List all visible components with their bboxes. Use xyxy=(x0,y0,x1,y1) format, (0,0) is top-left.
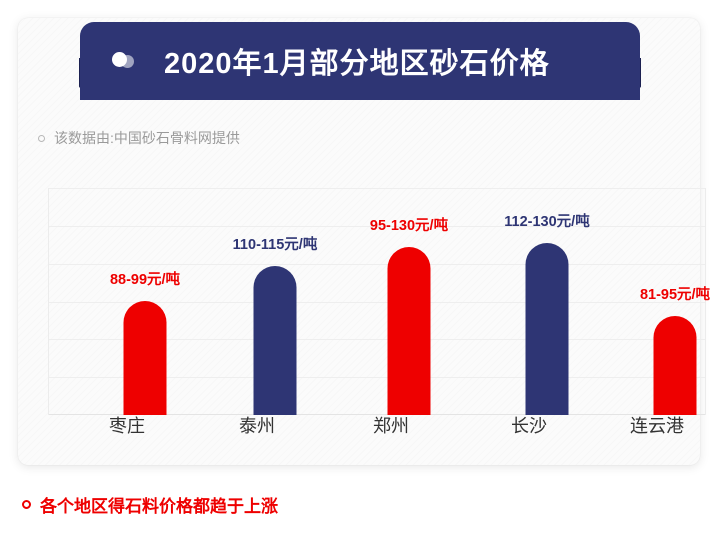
dot-pair-icon xyxy=(112,52,146,70)
bar-series: 88-99元/吨110-115元/吨95-130元/吨112-130元/吨81-… xyxy=(48,188,706,415)
bar-value-label: 110-115元/吨 xyxy=(233,233,318,254)
title-banner: 2020年1月部分地区砂石价格 xyxy=(80,22,640,100)
bar-value-label: 88-99元/吨 xyxy=(110,268,180,289)
circle-outline-icon xyxy=(22,500,31,509)
bar-value-label: 95-130元/吨 xyxy=(370,214,448,235)
summary-note: 各个地区得石料价格都趋于上涨 xyxy=(22,492,278,517)
bar[interactable] xyxy=(388,247,431,415)
bar-slot: 81-95元/吨 xyxy=(610,188,720,415)
category-label: 长沙 xyxy=(464,412,594,438)
page-title: 2020年1月部分地区砂石价格 xyxy=(164,40,550,82)
bar[interactable] xyxy=(526,243,569,415)
bar-slot: 110-115元/吨 xyxy=(210,188,340,415)
category-axis: 枣庄泰州郑州长沙连云港 xyxy=(30,412,688,442)
bar-slot: 88-99元/吨 xyxy=(80,188,210,415)
bar[interactable] xyxy=(654,316,697,415)
category-label: 泰州 xyxy=(192,412,322,438)
data-source-text: 该数据由:中国砂石骨料网提供 xyxy=(54,128,240,148)
bar-value-label: 81-95元/吨 xyxy=(640,283,710,304)
bar-value-label: 112-130元/吨 xyxy=(504,210,589,231)
data-source-note: 该数据由:中国砂石骨料网提供 xyxy=(38,128,240,148)
category-label: 枣庄 xyxy=(62,412,192,438)
bar-slot: 95-130元/吨 xyxy=(344,188,474,415)
summary-note-text: 各个地区得石料价格都趋于上涨 xyxy=(40,492,278,517)
banner-body: 2020年1月部分地区砂石价格 xyxy=(80,22,640,100)
circle-outline-icon xyxy=(38,135,45,142)
bar[interactable] xyxy=(124,301,167,415)
category-label: 郑州 xyxy=(326,412,456,438)
bar-slot: 112-130元/吨 xyxy=(482,188,612,415)
category-label: 连云港 xyxy=(592,412,720,438)
bar[interactable] xyxy=(254,266,297,415)
